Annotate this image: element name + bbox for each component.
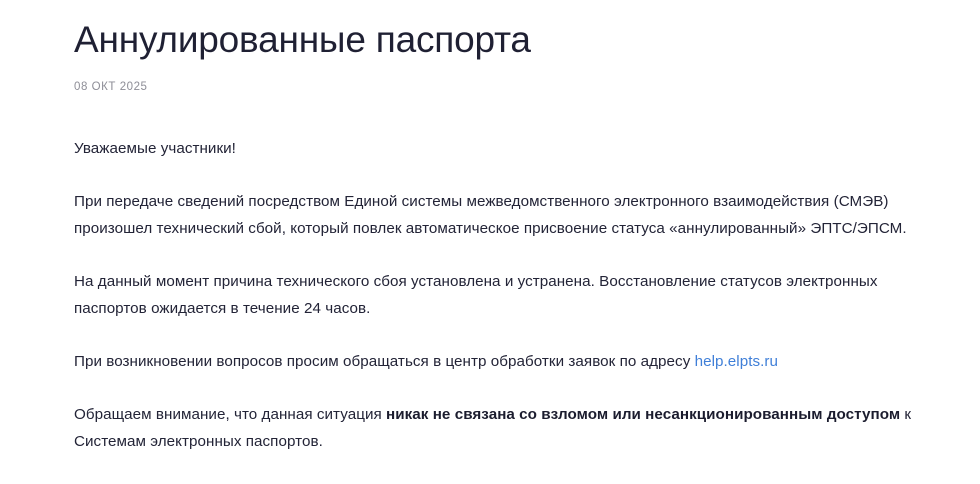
announcement-page: Аннулированные паспорта 08 ОКТ 2025 Уваж… — [0, 0, 980, 484]
paragraph-support-contact: При возникновении вопросов просим обраща… — [74, 348, 912, 375]
paragraph-status-update: На данный момент причина технического сб… — [74, 268, 912, 322]
article-body: Уважаемые участники! При передаче сведен… — [74, 135, 912, 455]
paragraph-security-notice: Обращаем внимание, что данная ситуация н… — [74, 401, 912, 455]
page-title: Аннулированные паспорта — [74, 18, 531, 62]
publication-date: 08 ОКТ 2025 — [74, 80, 147, 94]
security-notice-lead-text: Обращаем внимание, что данная ситуация — [74, 406, 386, 423]
support-link[interactable]: help.elpts.ru — [695, 353, 778, 370]
greeting-paragraph: Уважаемые участники! — [74, 135, 912, 162]
security-notice-emphasis: никак не связана со взломом или несанкци… — [386, 406, 900, 423]
support-contact-text: При возникновении вопросов просим обраща… — [74, 353, 695, 370]
paragraph-incident-description: При передаче сведений посредством Единой… — [74, 188, 912, 242]
